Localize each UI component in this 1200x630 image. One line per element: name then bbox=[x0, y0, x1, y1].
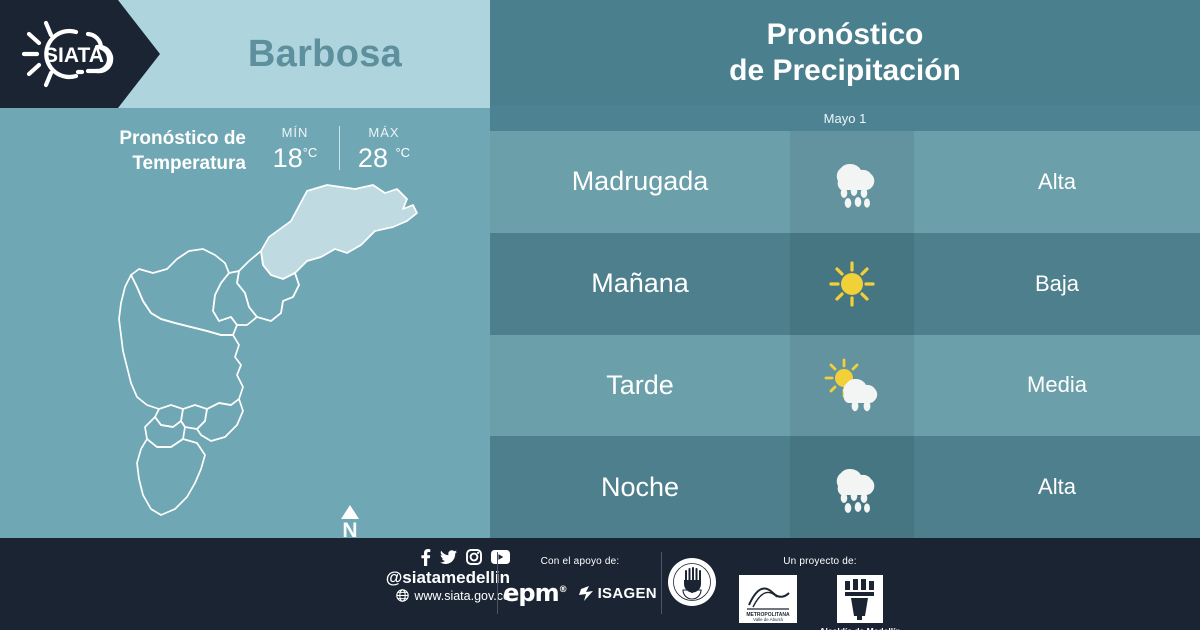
table-row: Mañana bbox=[490, 233, 1200, 335]
row-probability: Media bbox=[914, 372, 1200, 398]
min-degree-unit: °C bbox=[303, 145, 318, 160]
udea-seal-logo bbox=[668, 558, 716, 606]
temperature-title-line1: Pronóstico de bbox=[119, 128, 246, 149]
map-region-bello bbox=[131, 249, 237, 335]
row-period: Tarde bbox=[490, 370, 790, 401]
row-probability: Baja bbox=[914, 271, 1200, 297]
sun-cloud-icon: SIATA bbox=[18, 16, 130, 92]
isagen-mark-icon bbox=[579, 586, 595, 601]
support-logos: epm® ISAGEN bbox=[505, 579, 655, 607]
precipitation-title-line1: Pronóstico bbox=[767, 18, 924, 51]
project-caption: Un proyecto de: bbox=[700, 556, 940, 567]
siata-logo-text: SIATA bbox=[44, 44, 104, 67]
temperature-min-label: MÍN bbox=[282, 122, 309, 139]
sun-cloud-rain-icon bbox=[790, 335, 914, 437]
instagram-icon[interactable] bbox=[466, 549, 482, 565]
social-handle[interactable]: @siatamedellin bbox=[330, 568, 510, 588]
table-row: Tarde bbox=[490, 335, 1200, 437]
temperature-min-value: 18°C bbox=[273, 144, 318, 172]
precipitation-header: Pronóstico de Precipitación bbox=[490, 0, 1200, 105]
footer-divider-1 bbox=[497, 552, 498, 614]
table-row: Noche Alta bbox=[490, 436, 1200, 538]
temperature-max-value: 28 °C bbox=[358, 144, 410, 172]
footer-divider-2 bbox=[661, 552, 662, 614]
website-row[interactable]: www.siata.gov.co bbox=[330, 589, 510, 603]
alcaldia-medellin-logo: Alcaldía de Medellín bbox=[819, 575, 900, 630]
map-region-copacabana bbox=[213, 271, 257, 325]
forecast-date-band: Mayo 1 bbox=[490, 105, 1200, 131]
isagen-label: ISAGEN bbox=[598, 585, 657, 602]
temperature-max-label: MÁX bbox=[368, 122, 399, 139]
temperature-title: Pronóstico de Temperatura bbox=[60, 122, 246, 176]
row-period: Madrugada bbox=[490, 166, 790, 197]
row-probability: Alta bbox=[914, 474, 1200, 500]
table-row: Madrugada Alta bbox=[490, 131, 1200, 233]
area-metropolitana-logo: METROPOLITANA Valle de Aburrá bbox=[739, 575, 797, 623]
map-region-envigado bbox=[197, 399, 243, 441]
forecast-date: Mayo 1 bbox=[824, 111, 867, 126]
facebook-icon[interactable] bbox=[420, 549, 431, 566]
alcaldia-logo-mark bbox=[837, 575, 883, 623]
map-region-barbosa bbox=[261, 185, 417, 279]
map-region-outer-edge bbox=[271, 273, 299, 321]
map-region-caldas bbox=[137, 439, 205, 515]
support-caption: Con el apoyo de: bbox=[505, 556, 655, 567]
compass-arrow-icon bbox=[341, 505, 359, 519]
left-panel: SIATA Barbosa Pronóstico de Temperatura … bbox=[0, 0, 490, 538]
globe-icon bbox=[396, 589, 409, 602]
forecast-table: Madrugada Alta bbox=[490, 131, 1200, 538]
temperature-title-line2: Temperatura bbox=[132, 153, 246, 174]
rain-cloud-icon bbox=[790, 436, 914, 538]
seal-circle-icon bbox=[668, 558, 716, 606]
website-url[interactable]: www.siata.gov.co bbox=[414, 589, 510, 603]
row-period: Noche bbox=[490, 472, 790, 503]
area-logo-mark: METROPOLITANA Valle de Aburrá bbox=[739, 575, 797, 623]
temperature-divider bbox=[339, 126, 340, 170]
twitter-icon[interactable] bbox=[440, 550, 457, 565]
right-panel: Pronóstico de Precipitación Mayo 1 Madru… bbox=[490, 0, 1200, 538]
precipitation-title-line2: de Precipitación bbox=[729, 54, 961, 87]
temperature-values: MÍN 18°C MÁX 28 °C bbox=[264, 122, 415, 172]
area-label-2: Valle de Aburrá bbox=[754, 617, 784, 622]
footer-project-block: Un proyecto de: bbox=[700, 556, 940, 630]
footer-social-block: @siatamedellin www.siata.gov.co bbox=[330, 548, 510, 603]
max-degree-unit: °C bbox=[395, 145, 410, 160]
valle-de-aburra-map: N bbox=[55, 175, 475, 533]
precipitation-title: Pronóstico de Precipitación bbox=[729, 17, 961, 88]
temperature-max: MÁX 28 °C bbox=[353, 122, 415, 172]
city-name: Barbosa bbox=[160, 0, 490, 108]
isagen-logo: ISAGEN bbox=[579, 585, 657, 602]
weather-forecast-infographic: SIATA Barbosa Pronóstico de Temperatura … bbox=[0, 0, 1200, 630]
rain-cloud-icon bbox=[790, 131, 914, 233]
row-probability: Alta bbox=[914, 169, 1200, 195]
map-svg bbox=[55, 175, 475, 533]
footer-support-block: Con el apoyo de: epm® ISAGEN bbox=[505, 556, 655, 607]
epm-logo: epm® bbox=[503, 579, 566, 607]
sun-icon bbox=[790, 233, 914, 335]
map-region-medellin bbox=[119, 275, 243, 409]
project-logos: METROPOLITANA Valle de Aburrá bbox=[700, 575, 940, 630]
alcaldia-label: Alcaldía de Medellín bbox=[819, 626, 900, 630]
temperature-min: MÍN 18°C bbox=[264, 122, 326, 172]
social-icons bbox=[330, 548, 510, 566]
row-period: Mañana bbox=[490, 268, 790, 299]
